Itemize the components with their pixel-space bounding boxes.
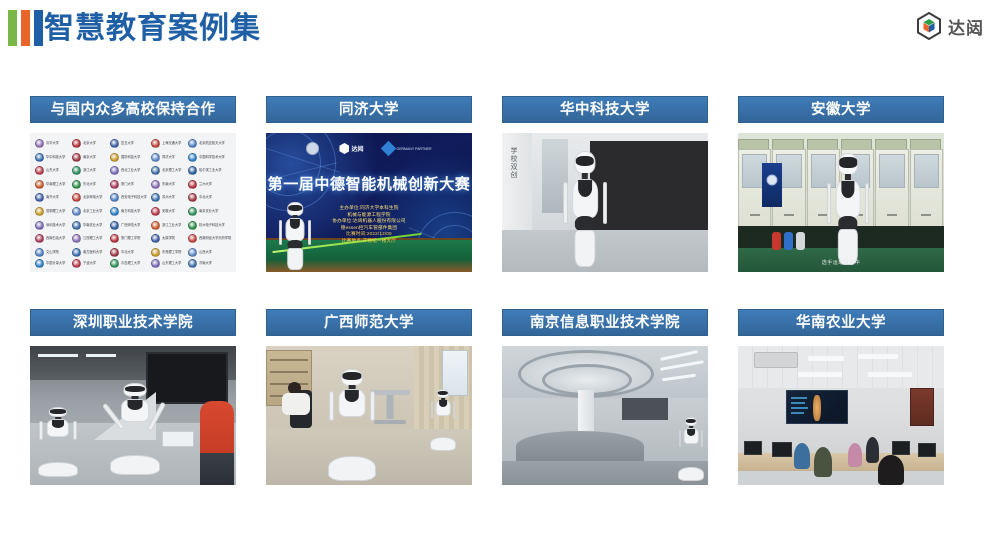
banner-line-time: 比赛时间:2022/12/09	[266, 231, 472, 238]
university-seal-icon	[72, 234, 81, 243]
university-name: 南方科技大学	[121, 209, 140, 214]
floor	[738, 471, 944, 485]
card-title: 同济大学	[266, 96, 472, 123]
university-name: 南京大学	[83, 155, 96, 160]
university-seal-icon	[151, 207, 160, 216]
university-seal-icon	[110, 248, 119, 257]
university-seal-icon	[110, 193, 119, 202]
ceiling-ac-unit	[754, 352, 798, 368]
mini-robot	[772, 232, 781, 250]
university-logo-item: 同济大学	[149, 151, 185, 165]
banner-poster	[762, 163, 782, 207]
university-logo-item: 中北大学	[186, 191, 233, 205]
university-seal-icon	[35, 180, 44, 189]
university-logo-item: 东莞理工学院	[149, 245, 185, 259]
university-logo-item: 文山学院	[33, 245, 69, 259]
university-name: 北京邮电大学	[83, 196, 102, 201]
university-seal-icon	[72, 166, 81, 175]
university-name: 江西理工大学	[83, 236, 102, 241]
university-logo-item: 中北大学	[108, 245, 148, 259]
university-name: 昆明理工大学	[46, 209, 65, 214]
case-card-universities[interactable]: 与国内众多高校保持合作 清华大学北京大学复旦大学上海交通大学北京航空航天大学华中…	[30, 96, 236, 272]
university-logo-item: 北京工业大学	[70, 205, 106, 219]
university-logo-item: 华中科技大学	[33, 151, 69, 165]
card-title: 南京信息职业技术学院	[502, 309, 708, 336]
university-seal-icon	[35, 166, 44, 175]
university-logo-item: 太原学院	[149, 232, 185, 246]
university-seal-icon	[110, 139, 119, 148]
university-seal-icon	[151, 180, 160, 189]
corridor-robot-photo: 学校双创	[502, 133, 708, 272]
monitor	[744, 441, 762, 455]
university-seal-icon	[72, 139, 81, 148]
university-logo-item: 南开大学	[33, 191, 69, 205]
card-title: 与国内众多高校保持合作	[30, 96, 236, 123]
university-seal-icon	[35, 221, 44, 230]
card-media-lab-robot: 选手运动展会中	[738, 133, 944, 272]
university-name: 北京理工大学	[162, 169, 181, 174]
podium	[370, 390, 410, 424]
university-name: 苏州大学	[162, 196, 175, 201]
university-name: 中北大学	[199, 196, 212, 201]
university-seal-icon	[110, 221, 119, 230]
university-logo-item: 东北大学	[70, 178, 106, 192]
wooden-door	[910, 388, 934, 426]
service-robot-left	[38, 407, 78, 477]
university-name: 安徽大学	[162, 209, 175, 214]
university-name: 中北大学	[121, 250, 134, 255]
desk-row	[738, 453, 944, 471]
banner-line: 主办单位:同济大学本科生院	[266, 205, 472, 212]
university-seal-icon	[110, 166, 119, 175]
dark-doorway	[622, 398, 668, 420]
service-robot	[678, 417, 704, 481]
futuristic-lobby-robot-photo	[502, 346, 708, 485]
card-title: 华南农业大学	[738, 309, 944, 336]
university-name: 中国科学技术大学	[199, 155, 225, 160]
university-name: 浙江大学	[83, 169, 96, 174]
university-seal-icon	[35, 193, 44, 202]
university-name: 东莞理工学院	[162, 250, 181, 255]
case-card-huazhong[interactable]: 华中科技大学 学校双创	[502, 96, 708, 272]
university-name: 复旦大学	[121, 141, 134, 146]
university-logo-item: 西南石油大学	[33, 232, 69, 246]
banner-logo-row: 达闼 GERMANY PARTNER	[266, 142, 472, 155]
university-name: 深圳技术大学	[46, 223, 65, 228]
card-media-computer-lab	[738, 346, 944, 485]
mini-robot	[784, 232, 793, 250]
university-logo-item: 南方医科大学	[70, 245, 106, 259]
university-name: 兰州大学	[199, 182, 212, 187]
mini-robot	[796, 232, 805, 250]
university-logo-item: 浙江大学	[70, 164, 106, 178]
university-name: 西南石油大学	[46, 236, 65, 241]
university-name: 文山学院	[46, 250, 59, 255]
university-name: 中国计量大学	[46, 261, 65, 266]
humanoid-robot	[562, 151, 608, 267]
card-title: 安徽大学	[738, 96, 944, 123]
university-seal-icon	[151, 153, 160, 162]
university-name: 山东理工大学	[162, 261, 181, 266]
case-card-shenzhen[interactable]: 深圳职业技术学院	[30, 309, 236, 485]
university-name: 东北大学	[83, 182, 96, 187]
student	[848, 443, 862, 467]
university-logo-item: 厦门大学	[108, 178, 148, 192]
seated-person	[282, 382, 312, 426]
university-logo-item: 中国科学技术大学	[186, 151, 233, 165]
university-seal-icon	[151, 248, 160, 257]
card-media-university-wall: 清华大学北京大学复旦大学上海交通大学北京航空航天大学华中科技大学南京大学国防科技…	[30, 133, 236, 272]
university-logo-item: 山东理工大学	[149, 259, 185, 268]
university-name: 浙江工业大学	[162, 223, 181, 228]
university-logo-item: 苏州大学	[149, 191, 185, 205]
university-logo-item: 清华大学	[33, 137, 69, 151]
university-logo-item: 西安电子科技大学	[108, 191, 148, 205]
person-in-red-shirt	[200, 401, 234, 485]
card-media-classroom-robots	[266, 346, 472, 485]
brand-logo: 达闼	[916, 12, 984, 40]
university-seal-icon	[151, 139, 160, 148]
university-name: 南开大学	[46, 196, 59, 201]
university-logo-item: 济南大学	[186, 259, 233, 268]
university-logo-item: 北京航空航天大学	[186, 137, 233, 151]
partner-logo-icon: GERMANY PARTNER	[383, 143, 431, 154]
university-name: 华中科技大学	[46, 155, 65, 160]
cloudminds-logo-icon: 达闼	[339, 143, 363, 154]
large-robot-foreground	[328, 369, 376, 481]
case-card-tongji[interactable]: 同济大学	[266, 96, 472, 272]
university-name: 广西师范大学	[121, 223, 140, 228]
university-seal-icon	[72, 180, 81, 189]
university-logo-item: 华南理工大学	[33, 178, 69, 192]
university-logo-item: 北京邮电大学	[70, 191, 106, 205]
banner-line: 协办单位:达闼机器人股份有限公司	[266, 218, 472, 225]
card-title: 深圳职业技术学院	[30, 309, 236, 336]
university-name: 华南理工大学	[46, 182, 65, 187]
card-row-1: 与国内众多高校保持合作 清华大学北京大学复旦大学上海交通大学北京航空航天大学华中…	[0, 96, 1000, 272]
university-name: 山东大学	[46, 169, 59, 174]
university-logo-item: 山西大学	[186, 245, 233, 259]
university-logo-item: 深圳技术大学	[33, 218, 69, 232]
card-media-lobby-robot	[502, 346, 708, 485]
student	[814, 447, 832, 477]
service-robot-right	[110, 383, 160, 475]
slide-page: 智慧教育案例集 达闼 与国内众多高校保持合作 清华大学北京大学复旦大学上海交通大…	[0, 0, 1000, 538]
university-logo-item: 华南农业大学	[70, 218, 106, 232]
university-name: 青岛理工大学	[121, 261, 140, 266]
university-logo-item: 兰州大学	[186, 178, 233, 192]
university-logo-item: 昆明理工大学	[33, 205, 69, 219]
university-seal-icon	[72, 153, 81, 162]
university-seal-icon	[188, 259, 197, 268]
university-seal-icon	[151, 234, 160, 243]
page-header: 智慧教育案例集 达闼	[0, 0, 1000, 60]
tongji-seal-icon	[306, 142, 319, 155]
university-name: 北京航空航天大学	[199, 141, 225, 146]
university-seal-icon	[151, 221, 160, 230]
monitor	[918, 443, 936, 457]
competition-banner-image: 达闼 GERMANY PARTNER 第一届中德智能机械创新大赛 主办单位:同济…	[266, 133, 472, 272]
monitor	[892, 441, 910, 455]
university-name: 山西大学	[199, 250, 212, 255]
university-logo-item: 上海交通大学	[149, 137, 185, 151]
university-seal-icon	[35, 259, 44, 268]
university-name: 清华大学	[46, 141, 59, 146]
university-seal-icon	[151, 166, 160, 175]
university-logo-item: 杭州电子科技大学	[186, 218, 233, 232]
university-name: 宁波大学	[83, 261, 96, 266]
university-logo-item: 西南财经大学天府学院	[186, 232, 233, 246]
university-name: 国防科技大学	[121, 155, 140, 160]
card-media-competition-banner: 达闼 GERMANY PARTNER 第一届中德智能机械创新大赛 主办单位:同济…	[266, 133, 472, 272]
university-seal-icon	[110, 259, 119, 268]
university-seal-icon	[188, 180, 197, 189]
case-card-nanjing[interactable]: 南京信息职业技术学院	[502, 309, 708, 485]
university-logo-item: 广西师范大学	[108, 218, 148, 232]
university-seal-icon	[188, 221, 197, 230]
university-seal-icon	[35, 234, 44, 243]
hexagon-cube-logo-icon	[916, 12, 942, 40]
university-seal-icon	[188, 248, 197, 257]
photo-caption: 选手运动展会中	[738, 259, 944, 266]
brand-name: 达闼	[948, 14, 984, 39]
university-name: 西北工业大学	[121, 169, 140, 174]
university-seal-icon	[188, 166, 197, 175]
university-seal-icon	[72, 193, 81, 202]
humanoid-robot	[826, 153, 870, 265]
computer-lab-students-photo	[738, 346, 944, 485]
university-logo-item: 南京大学	[70, 151, 106, 165]
university-seal-icon	[110, 207, 119, 216]
cloudminds-logo-text: 达闼	[351, 144, 363, 153]
case-card-huanan[interactable]: 华南农业大学	[738, 309, 944, 485]
university-logo-item: 北京大学	[70, 137, 106, 151]
card-title: 广西师范大学	[266, 309, 472, 336]
university-logo-item: 西北工业大学	[108, 164, 148, 178]
university-name: 东南大学	[162, 182, 175, 187]
university-name: 西安电子科技大学	[121, 196, 147, 201]
university-name: 哈尔滨工业大学	[199, 169, 222, 174]
university-seal-icon	[188, 153, 197, 162]
university-seal-icon	[110, 153, 119, 162]
university-logo-item: 复旦大学	[108, 137, 148, 151]
university-logo-item: 山东大学	[33, 164, 69, 178]
university-name: 华南农业大学	[83, 223, 102, 228]
banner-line-place: 比赛地点:开物馆一楼大厅	[266, 238, 472, 245]
university-seal-icon	[188, 207, 197, 216]
university-logo-item: 青岛理工大学	[108, 259, 148, 268]
center-column	[578, 390, 594, 436]
banner-title: 第一届中德智能机械创新大赛	[266, 173, 472, 194]
university-seal-icon	[35, 139, 44, 148]
university-seal-icon	[188, 193, 197, 202]
university-logo-item: 安徽大学	[149, 205, 185, 219]
card-media-service-robots	[30, 346, 236, 485]
university-seal-icon	[35, 207, 44, 216]
university-name: 济南大学	[199, 261, 212, 266]
card-media-corridor-robot: 学校双创	[502, 133, 708, 272]
university-name: 南京农业大学	[199, 209, 218, 214]
university-seal-icon	[110, 180, 119, 189]
university-logo-wall: 清华大学北京大学复旦大学上海交通大学北京航空航天大学华中科技大学南京大学国防科技…	[30, 133, 236, 272]
university-name: 北京工业大学	[83, 209, 102, 214]
case-card-guangxi[interactable]: 广西师范大学	[266, 309, 472, 485]
university-seal-icon	[151, 259, 160, 268]
university-logo-item: 江西理工大学	[70, 232, 106, 246]
university-name: 西南财经大学天府学院	[199, 236, 231, 241]
university-logo-item: 北京理工大学	[149, 164, 185, 178]
university-seal-icon	[72, 259, 81, 268]
university-name: 厦门大学	[121, 182, 134, 187]
two-service-robots-photo	[30, 346, 236, 485]
case-card-grid: 与国内众多高校保持合作 清华大学北京大学复旦大学上海交通大学北京航空航天大学华中…	[0, 96, 1000, 485]
university-logo-item: 哈尔滨工业大学	[186, 164, 233, 178]
university-logo-item: 南方科技大学	[108, 205, 148, 219]
case-card-anhui[interactable]: 安徽大学	[738, 96, 944, 272]
page-title: 智慧教育案例集	[44, 7, 261, 51]
university-logo-item: 浙江工业大学	[149, 218, 185, 232]
card-row-2: 深圳职业技术学院	[0, 309, 1000, 485]
university-logo-item: 南京农业大学	[186, 205, 233, 219]
card-title: 华中科技大学	[502, 96, 708, 123]
large-display-screen	[786, 390, 848, 424]
university-seal-icon	[151, 193, 160, 202]
accent-bars-icon	[8, 10, 43, 46]
wall-vertical-text: 学校双创	[508, 147, 518, 179]
student-foreground	[878, 455, 904, 485]
robot-background	[430, 389, 456, 451]
university-logo-item: 国防科技大学	[108, 151, 148, 165]
university-name: 同济大学	[162, 155, 175, 160]
student	[794, 443, 810, 469]
university-name: 上海交通大学	[162, 141, 181, 146]
lab-cabinets-robot-photo: 选手运动展会中	[738, 133, 944, 272]
university-logo-item: 中国计量大学	[33, 259, 69, 268]
university-name: 太原学院	[162, 236, 175, 241]
standing-person	[866, 437, 879, 463]
university-logo-item: 宁波大学	[70, 259, 106, 268]
university-seal-icon	[188, 234, 197, 243]
university-seal-icon	[72, 221, 81, 230]
university-logo-item: 厦门理工学院	[108, 232, 148, 246]
banner-detail-lines: 主办单位:同济大学本科生院 机械与能源工程学院 协办单位:达闼机器人股份有限公司…	[266, 205, 472, 245]
classroom-robots-photo	[266, 346, 472, 485]
university-seal-icon	[35, 153, 44, 162]
university-name: 厦门理工学院	[121, 236, 140, 241]
university-seal-icon	[110, 234, 119, 243]
university-name: 杭州电子科技大学	[199, 223, 225, 228]
university-seal-icon	[35, 248, 44, 257]
monitor	[772, 442, 792, 457]
university-name: 北京大学	[83, 141, 96, 146]
university-logo-item: 东南大学	[149, 178, 185, 192]
university-seal-icon	[188, 139, 197, 148]
equipment-box	[162, 431, 194, 447]
university-seal-icon	[72, 207, 81, 216]
university-seal-icon	[72, 248, 81, 257]
university-name: 南方医科大学	[83, 250, 102, 255]
